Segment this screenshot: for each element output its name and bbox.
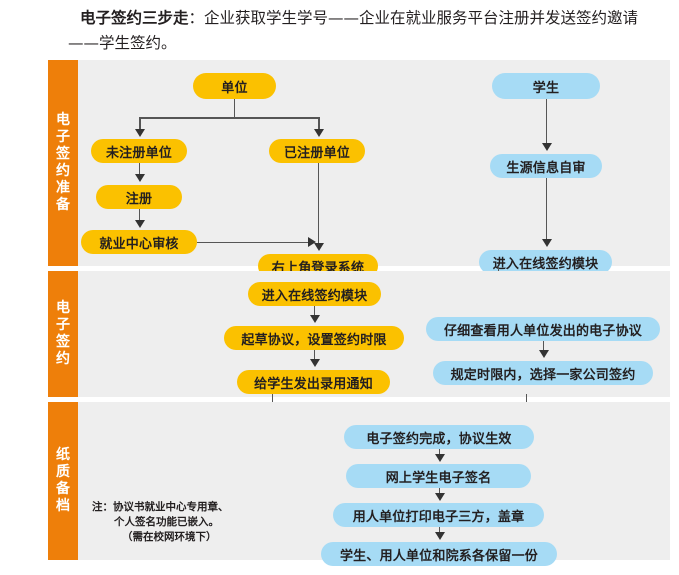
arrow-down-keep-copy — [435, 532, 445, 540]
footnote: 注：协议书就业中心专用章、 个人签名功能已嵌入。 （需在校网环境下） — [92, 500, 257, 545]
node-label: 学生、用人单位和院系各保留一份 — [340, 545, 538, 564]
connector-review-to-login — [197, 242, 310, 244]
arrow-down-center-review — [135, 220, 145, 228]
node-label: 单位 — [221, 77, 247, 96]
connector-unit-stem — [234, 99, 236, 118]
arrow-down-choose-company — [539, 350, 549, 358]
arrow-down-selfreview — [542, 143, 552, 151]
section-preparation: 电子签约准备 单位 未注册单位 已注册单位 — [48, 60, 670, 266]
arrow-down-login — [314, 243, 324, 251]
node-review-agreement[interactable]: 仔细查看用人单位发出的电子协议 — [426, 317, 660, 341]
arrow-down-register — [135, 174, 145, 182]
node-unit[interactable]: 单位 — [193, 73, 276, 99]
node-center-review[interactable]: 就业中心审核 — [81, 230, 197, 254]
section-tab-signing: 电子签约 — [48, 271, 78, 397]
node-student[interactable]: 学生 — [492, 73, 600, 99]
node-self-review[interactable]: 生源信息自审 — [490, 154, 602, 178]
arrow-down-registered — [314, 129, 324, 137]
node-keep-copies[interactable]: 学生、用人单位和院系各保留一份 — [321, 542, 557, 566]
section-tab-label: 电子签约 — [55, 300, 71, 368]
node-label: 网上学生电子签名 — [386, 467, 492, 486]
node-label: 就业中心审核 — [99, 233, 178, 252]
node-label: 生源信息自审 — [506, 157, 585, 176]
section-tab-label: 电子签约准备 — [55, 112, 71, 214]
node-label: 起草协议，设置签约时限 — [241, 329, 386, 348]
connector-registered-to-login — [318, 163, 320, 245]
node-print-tripartite[interactable]: 用人单位打印电子三方，盖章 — [333, 503, 544, 527]
connector-student-to-selfreview — [546, 99, 548, 146]
node-label: 注册 — [126, 188, 152, 207]
section-tab-paper-archive: 纸质备档 — [48, 402, 78, 560]
section-body-signing: 进入在线签约模块 起草协议，设置签约时限 给学生发出录用通知 仔细查看用人单位发… — [81, 271, 670, 397]
node-signing-complete[interactable]: 电子签约完成，协议生效 — [344, 425, 534, 449]
node-label: 已注册单位 — [284, 142, 350, 161]
connector-selfreview-to-module — [546, 178, 548, 242]
arrow-down-print — [435, 493, 445, 501]
node-register[interactable]: 注册 — [96, 185, 182, 209]
page-title: 电子签约三步走：企业获取学生学号——企业在就业服务平台注册并发送签约邀请——学生… — [68, 6, 668, 56]
page-title-lead: 电子签约三步走 — [80, 9, 189, 27]
arrow-down-enter-module-right — [542, 239, 552, 247]
page-title-text: 电子签约三步走：企业获取学生学号——企业在就业服务平台注册并发送签约邀请——学生… — [68, 6, 668, 56]
node-label: 用人单位打印电子三方，盖章 — [353, 506, 525, 525]
node-label: 未注册单位 — [106, 142, 172, 161]
node-draft-agreement[interactable]: 起草协议，设置签约时限 — [224, 326, 404, 350]
arrow-down-esign — [435, 454, 445, 462]
section-signing: 电子签约 进入在线签约模块 起草协议，设置签约时限 给学生发出录用通知 仔细查看… — [48, 271, 670, 397]
footnote-line-1: 注：协议书就业中心专用章、 — [92, 500, 257, 515]
footnote-line-2: 个人签名功能已嵌入。 — [92, 515, 257, 530]
flowchart-page: 电子签约三步走：企业获取学生学号——企业在就业服务平台注册并发送签约邀请——学生… — [0, 0, 679, 575]
node-online-student-esign[interactable]: 网上学生电子签名 — [346, 464, 531, 488]
node-label: 进入在线签约模块 — [493, 253, 599, 272]
node-unregistered-unit[interactable]: 未注册单位 — [91, 139, 187, 163]
arrow-down-offer — [310, 359, 320, 367]
footnote-line-3: （需在校网环境下） — [92, 530, 257, 545]
node-choose-company[interactable]: 规定时限内，选择一家公司签约 — [433, 361, 653, 385]
node-label: 仔细查看用人单位发出的电子协议 — [444, 320, 642, 339]
connector-unit-split — [139, 117, 319, 119]
node-label: 进入在线签约模块 — [262, 285, 368, 304]
arrow-down-draft — [310, 315, 320, 323]
node-label: 规定时限内，选择一家公司签约 — [451, 364, 636, 383]
node-enter-online-module-unit[interactable]: 进入在线签约模块 — [248, 282, 381, 306]
section-tab-preparation: 电子签约准备 — [48, 60, 78, 266]
node-registered-unit[interactable]: 已注册单位 — [269, 139, 365, 163]
node-send-offer[interactable]: 给学生发出录用通知 — [237, 370, 390, 394]
section-tab-label: 纸质备档 — [55, 447, 71, 515]
section-body-preparation: 单位 未注册单位 已注册单位 注册 — [81, 60, 670, 266]
arrow-down-unregistered — [135, 129, 145, 137]
node-label: 给学生发出录用通知 — [254, 373, 373, 392]
node-label: 学生 — [533, 77, 559, 96]
node-label: 电子签约完成，协议生效 — [366, 428, 511, 447]
